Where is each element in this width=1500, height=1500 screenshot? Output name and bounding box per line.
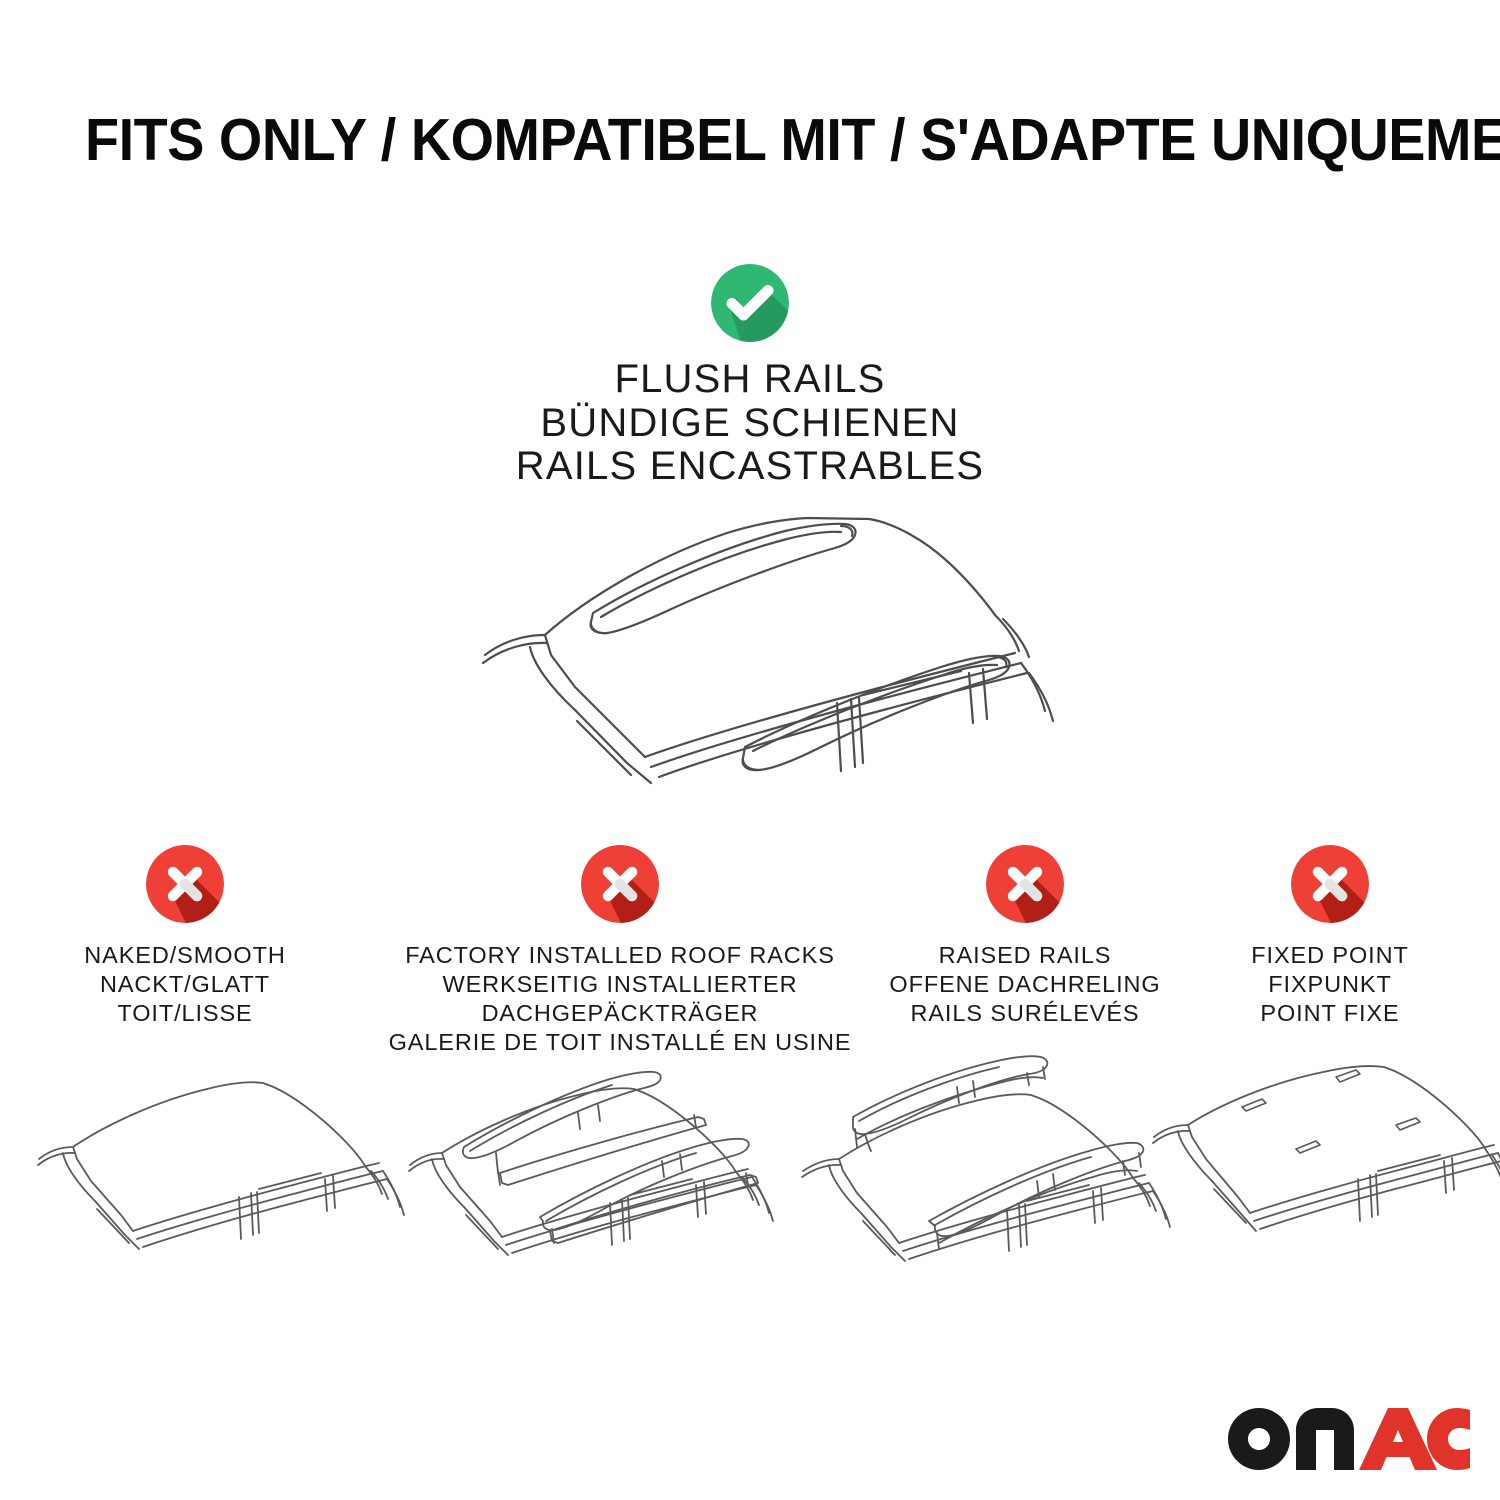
incompatible-label-line: FACTORY INSTALLED ROOF RACKS — [370, 941, 870, 970]
car-roof-flush-rails-illustration — [455, 495, 1075, 795]
logo-letter-a — [1359, 1408, 1437, 1470]
green-check-circle-icon — [711, 264, 789, 342]
red-cross-circle-icon — [1291, 845, 1369, 923]
incompatible-label-line: RAILS SURÉLEVÉS — [860, 999, 1190, 1028]
incompatible-row: NAKED/SMOOTH NACKT/GLATT TOIT/LISSE — [0, 845, 1500, 1055]
page-title: FITS ONLY / KOMPATIBEL MIT / S'ADAPTE UN… — [85, 108, 1351, 172]
car-roof-naked-smooth-illustration — [35, 1055, 405, 1285]
red-cross-circle-icon — [146, 845, 224, 923]
incompatible-label-group: FIXED POINT FIXPUNKT POINT FIXE — [1180, 941, 1480, 1028]
incompatible-label-line: GALERIE DE TOIT INSTALLÉ EN USINE — [370, 1028, 870, 1057]
red-cross-circle-icon — [581, 845, 659, 923]
incompatible-label-line: NAKED/SMOOTH — [40, 941, 330, 970]
red-cross-circle-icon — [986, 845, 1064, 923]
incompatible-label-group: RAISED RAILS OFFENE DACHRELING RAILS SUR… — [860, 941, 1190, 1028]
incompatible-label-line: DACHGEPÄCKTRÄGER — [370, 999, 870, 1028]
incompatible-label-line: FIXPUNKT — [1180, 970, 1480, 999]
omac-logo — [1228, 1408, 1470, 1470]
compatible-label-group: FLUSH RAILS BÜNDIGE SCHIENEN RAILS ENCAS… — [250, 358, 1250, 489]
compatible-label-line-2: BÜNDIGE SCHIENEN — [250, 402, 1250, 446]
compatible-label-line-3: RAILS ENCASTRABLES — [250, 445, 1250, 489]
car-roof-raised-rails-illustration — [795, 1055, 1185, 1285]
incompatible-label-group: NAKED/SMOOTH NACKT/GLATT TOIT/LISSE — [40, 941, 330, 1028]
logo-letter-m — [1296, 1408, 1354, 1470]
compatibility-infographic: FITS ONLY / KOMPATIBEL MIT / S'ADAPTE UN… — [0, 0, 1500, 1500]
car-roof-factory-racks-illustration — [398, 1055, 788, 1285]
compatible-label-line-1: FLUSH RAILS — [250, 358, 1250, 402]
logo-letter-o — [1228, 1408, 1290, 1470]
incompatible-label-line: TOIT/LISSE — [40, 999, 330, 1028]
incompatible-label-line: NACKT/GLATT — [40, 970, 330, 999]
incompatible-label-line: RAISED RAILS — [860, 941, 1190, 970]
incompatible-label-line: FIXED POINT — [1180, 941, 1480, 970]
car-roof-fixed-point-illustration — [1150, 1055, 1500, 1285]
incompatible-label-line: POINT FIXE — [1180, 999, 1480, 1028]
incompatible-label-line: WERKSEITIG INSTALLIERTER — [370, 970, 870, 999]
incompatible-label-line: OFFENE DACHRELING — [860, 970, 1190, 999]
incompatible-label-group: FACTORY INSTALLED ROOF RACKS WERKSEITIG … — [370, 941, 870, 1057]
logo-letter-c — [1427, 1408, 1470, 1470]
